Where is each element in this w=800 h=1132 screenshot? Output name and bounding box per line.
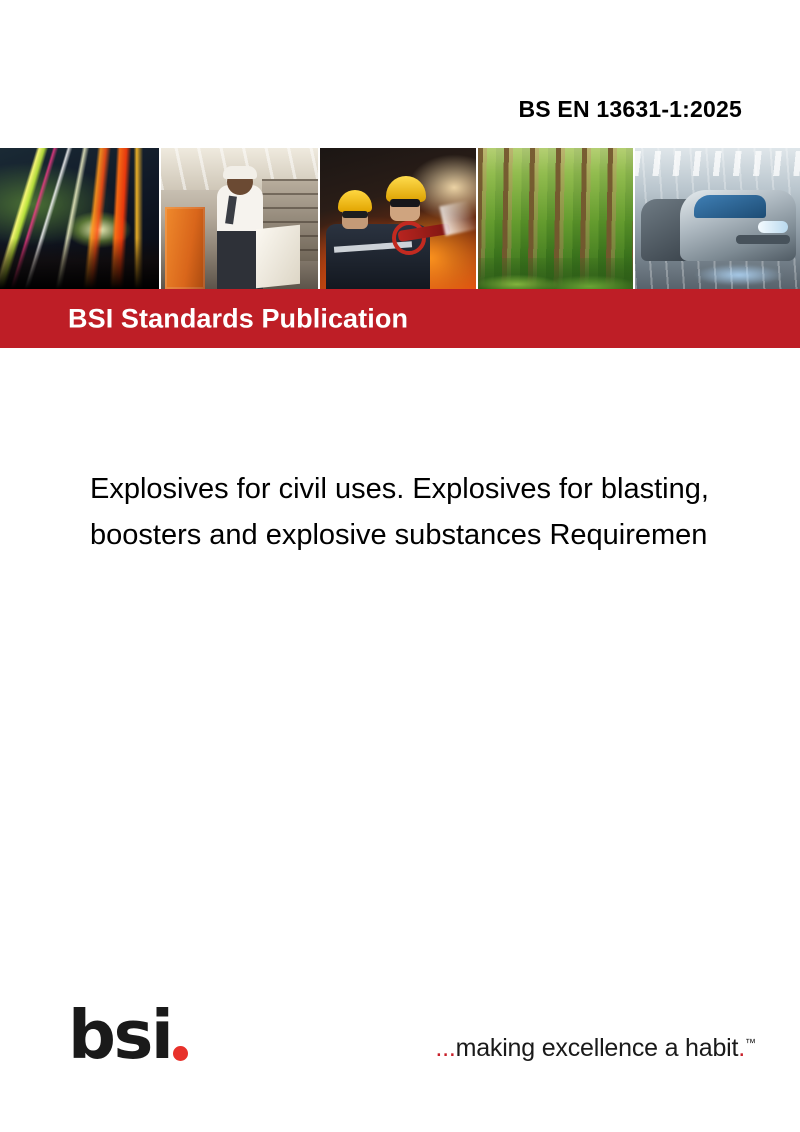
tagline-period: . <box>738 1034 745 1062</box>
firefighter-helmet-left <box>338 190 372 212</box>
document-title: Explosives for civil uses. Explosives fo… <box>90 466 800 558</box>
warehouse-box <box>256 225 300 289</box>
bsi-tagline: ...making excellence a habit.™ <box>435 1034 756 1063</box>
water-spray <box>440 198 476 236</box>
tagline-trademark-icon: ™ <box>745 1038 756 1050</box>
standard-number: BS EN 13631-1:2025 <box>518 96 742 123</box>
tagline-text: making excellence a habit <box>456 1034 739 1062</box>
bsi-logo-dot-icon <box>173 1046 188 1061</box>
banner-image-light-trails <box>0 148 159 289</box>
factory-ceiling-lights <box>635 151 800 176</box>
factory-floor-reflection <box>694 264 784 287</box>
banner-image-warehouse <box>161 148 318 289</box>
firefighter-visor-right <box>390 199 420 207</box>
warehouse-crate <box>165 207 205 289</box>
car-headlight <box>758 221 788 233</box>
document-title-line-2: boosters and explosive substances Requir… <box>90 512 800 558</box>
bsi-logo: bsi <box>68 1001 188 1065</box>
document-title-line-1: Explosives for civil uses. Explosives fo… <box>90 466 800 512</box>
banner-image-firefighters <box>320 148 475 289</box>
tagline-ellipsis: ... <box>435 1034 455 1062</box>
car-windshield <box>694 195 766 219</box>
warehouse-worker-cap <box>223 166 257 179</box>
bsi-logo-wordmark: bsi <box>68 1007 171 1065</box>
bsi-standards-publication-band: BSI Standards Publication <box>0 289 800 348</box>
car-grille <box>736 235 790 244</box>
banner-image-forest <box>478 148 633 289</box>
firefighter-visor-left <box>342 211 368 218</box>
banner-image-automotive <box>635 148 800 289</box>
band-label: BSI Standards Publication <box>68 303 408 334</box>
cover-photo-banner <box>0 148 800 289</box>
